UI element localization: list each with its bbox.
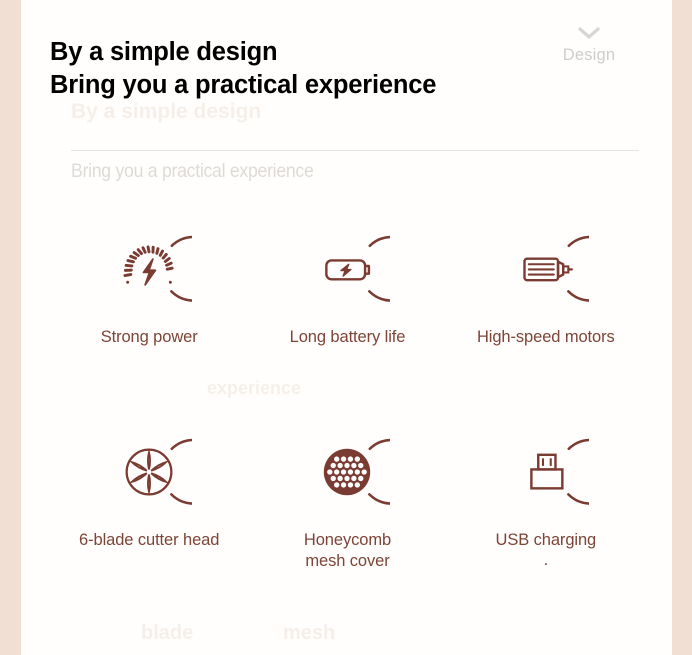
page-subtitle: Bring you a practical experience: [71, 161, 314, 183]
page-root: By a simple design experience blade mesh…: [0, 0, 692, 655]
ghost-artifact-bottom-left: blade: [141, 622, 193, 645]
feature-item-motors[interactable]: High-speed motors: [447, 226, 645, 348]
usb-plug-icon: [503, 429, 589, 515]
content-panel: By a simple design experience blade mesh…: [21, 0, 672, 655]
feature-label: Long battery life: [290, 327, 406, 348]
feature-grid: Strong power: [50, 226, 645, 572]
ghost-artifact-bottom-mid: mesh: [283, 622, 335, 645]
feature-label-line2: mesh cover: [305, 552, 389, 570]
feature-item-cutter-head[interactable]: 6-blade cutter head: [50, 429, 248, 572]
feature-label: High-speed motors: [477, 327, 615, 348]
feature-label: 6-blade cutter head: [79, 530, 219, 551]
feature-item-usb-charging[interactable]: USB charging .: [447, 429, 645, 572]
design-label: Design: [543, 47, 635, 64]
feature-row-1: Strong power: [50, 226, 645, 348]
feature-label-note: .: [496, 551, 597, 569]
feature-item-battery-life[interactable]: Long battery life: [248, 226, 446, 348]
cutter-blade-icon: [106, 429, 192, 515]
chevron-down-icon: [577, 26, 601, 40]
feature-label: Strong power: [101, 327, 198, 348]
feature-label: USB charging .: [496, 530, 597, 569]
gauge-power-icon: [106, 226, 192, 312]
feature-item-mesh-cover[interactable]: Honeycomb mesh cover: [248, 429, 446, 572]
header-divider: [71, 150, 639, 151]
design-section-toggle[interactable]: Design: [543, 26, 635, 64]
feature-label-line1: USB charging: [496, 531, 597, 549]
feature-item-strong-power[interactable]: Strong power: [50, 226, 248, 348]
feature-label: Honeycomb mesh cover: [304, 530, 391, 572]
page-title-line2: Bring you a practical experience: [50, 69, 645, 101]
honeycomb-mesh-icon: [304, 429, 390, 515]
feature-label-line1: Honeycomb: [304, 531, 391, 549]
feature-row-2: 6-blade cutter head: [50, 429, 645, 572]
battery-charging-icon: [304, 226, 390, 312]
motor-icon: [503, 226, 589, 312]
